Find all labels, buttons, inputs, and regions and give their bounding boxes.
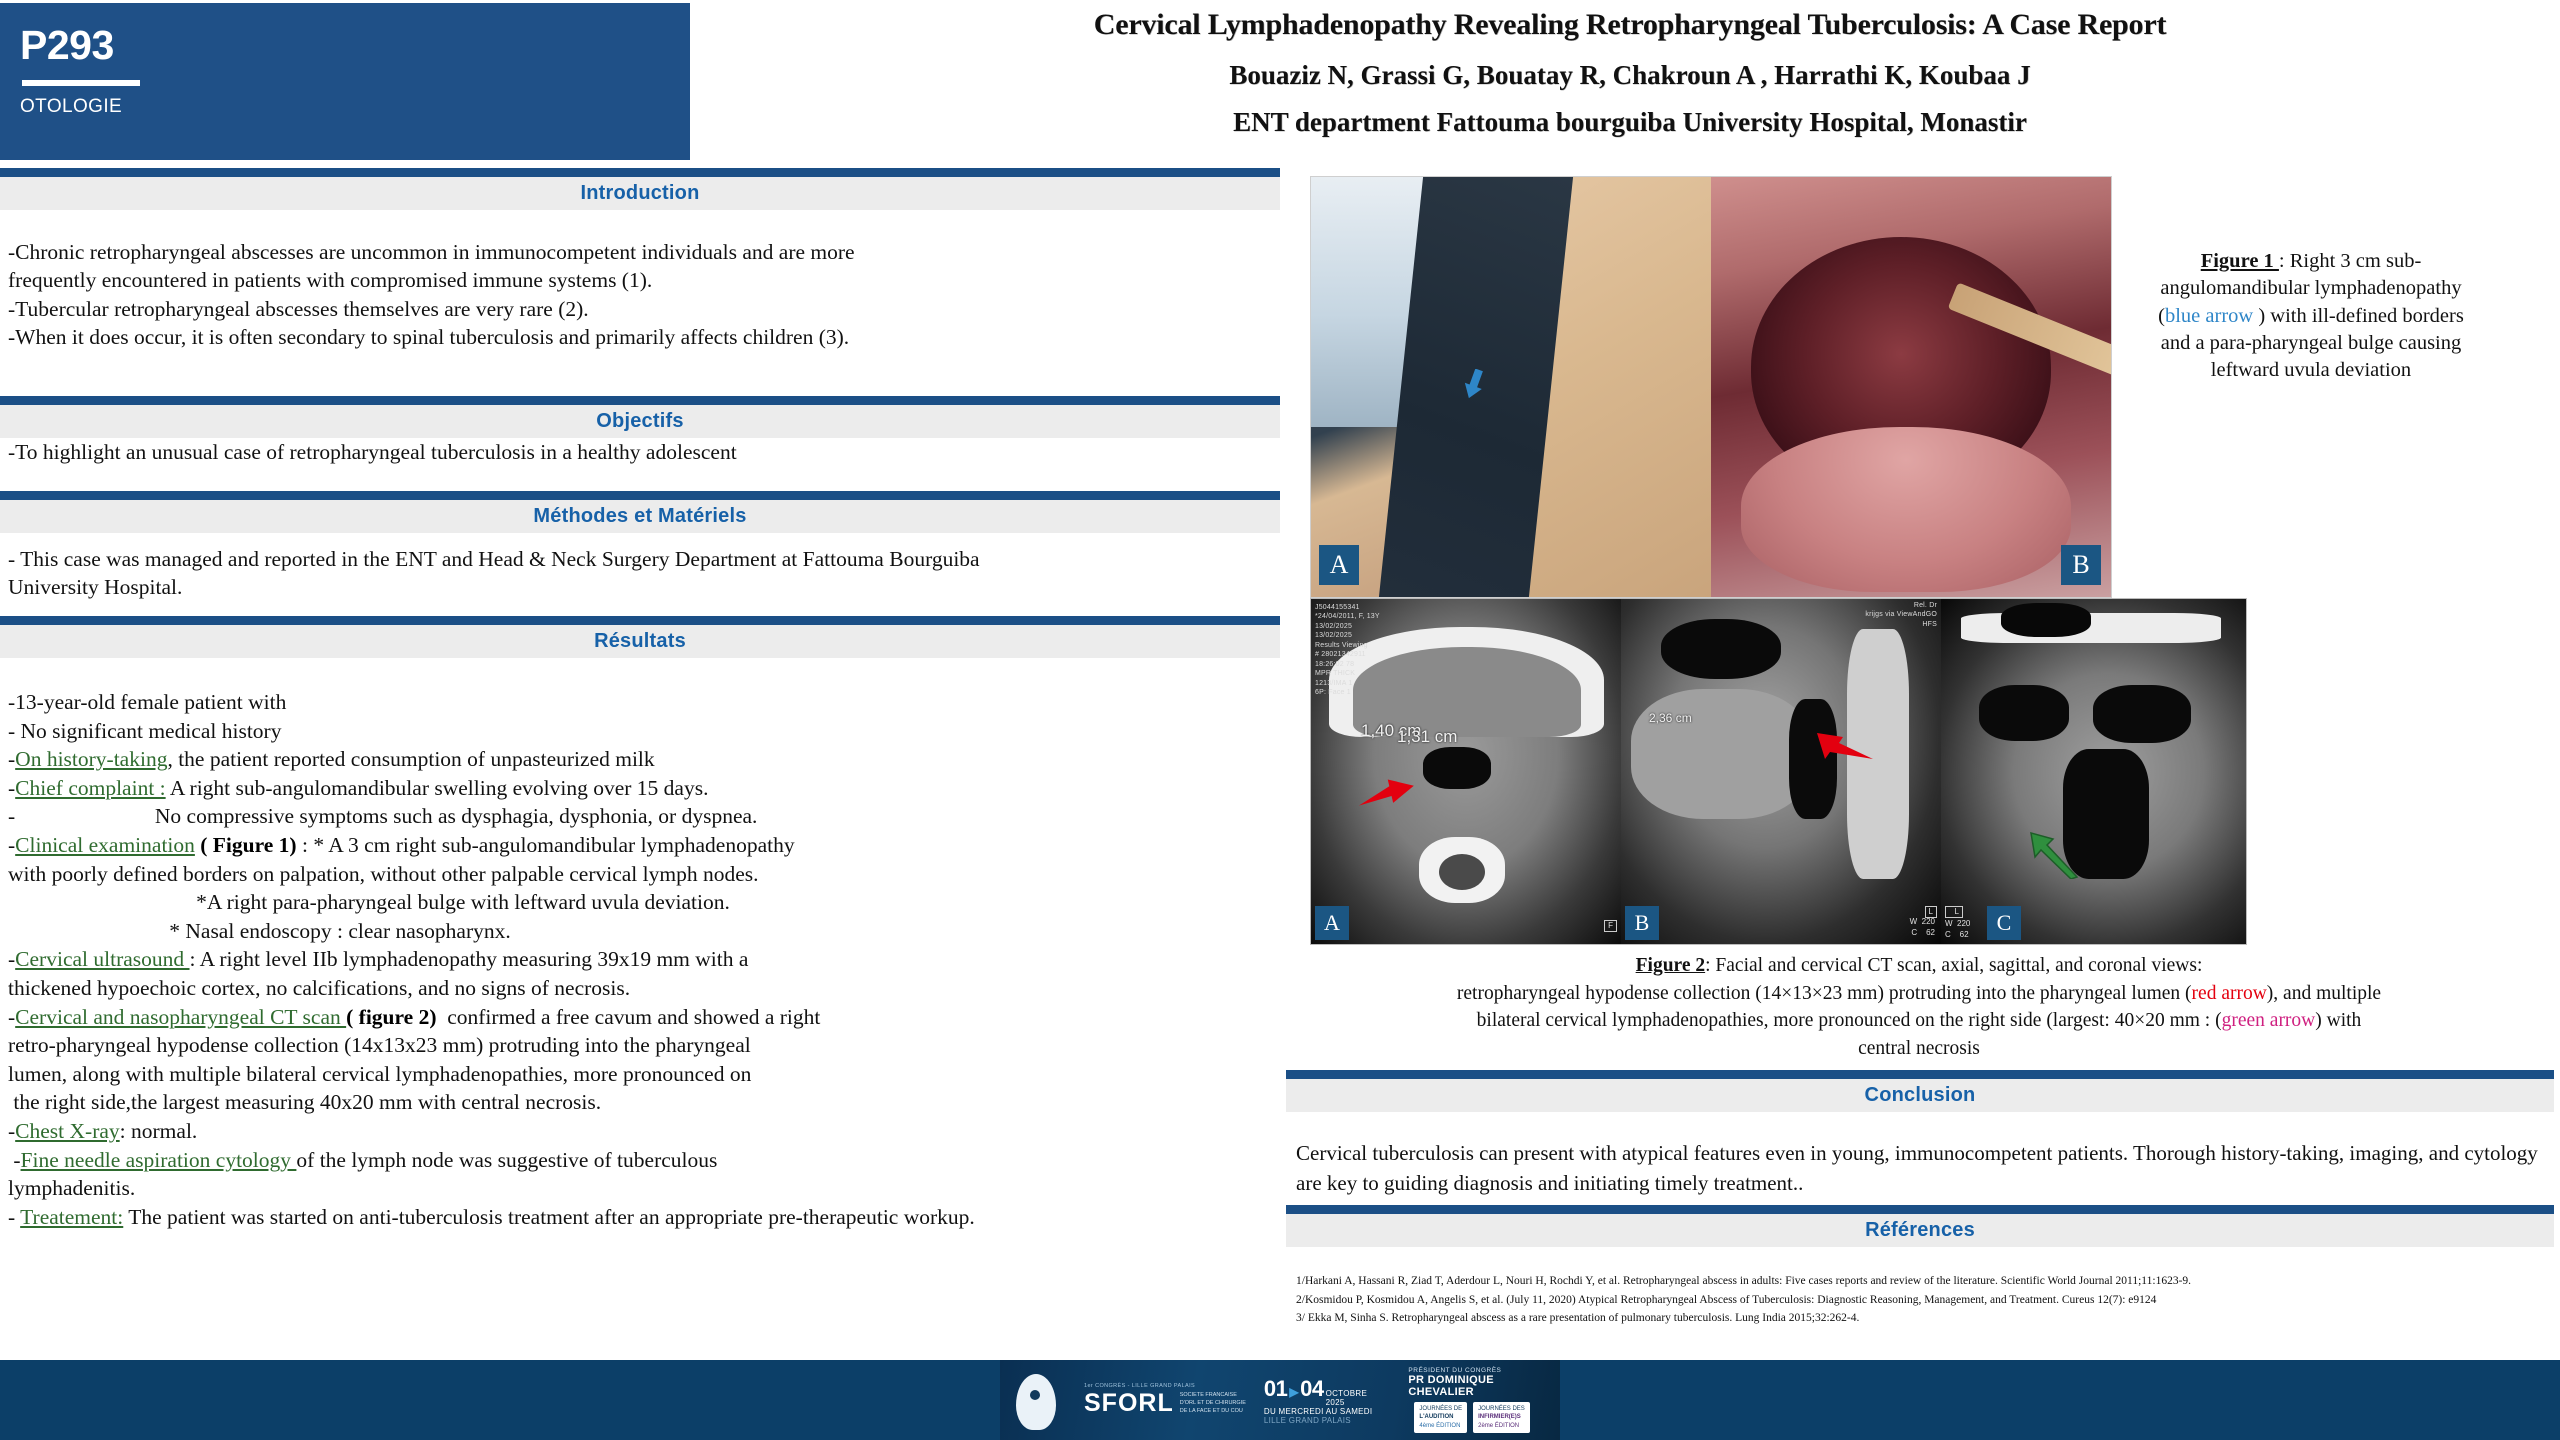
figure2-panel-label-c: C bbox=[1987, 906, 2021, 940]
figure1-panel-a-photo: A bbox=[1311, 177, 1711, 597]
poster-title-block: Cervical Lymphadenopathy Revealing Retro… bbox=[700, 0, 2560, 160]
infirmieres-chip-badge: 2ème ÉDITION bbox=[1478, 1422, 1525, 1430]
resultats-line: with poorly defined borders on palpation… bbox=[8, 860, 1278, 889]
author-list: Bouaziz N, Grassi G, Bouatay R, Chakroun… bbox=[700, 42, 2560, 91]
resultats-text: confirmed a free cavum and showed a righ… bbox=[436, 1005, 820, 1029]
figure2-caption-green-arrow-text: green arrow bbox=[2222, 1010, 2316, 1031]
congress-days: DU MERCREDI AU SAMEDI bbox=[1264, 1407, 1387, 1416]
resultats-line: - No significant medical history bbox=[8, 717, 1278, 746]
soft-tissue-mass bbox=[1631, 689, 1811, 819]
introduction-body: -Chronic retropharyngeal abscesses are u… bbox=[8, 238, 1273, 352]
resultats-text: : * A 3 cm right sub-angulomandibular ly… bbox=[297, 833, 795, 857]
references-list: 1/Harkani A, Hassani R, Ziad T, Aderdour… bbox=[1296, 1272, 2546, 1328]
figure1-caption-label: Figure 1 bbox=[2201, 250, 2279, 272]
congress-month-year: OCTOBRE 2025 bbox=[1326, 1389, 1387, 1407]
figure1-panel-label-a: A bbox=[1319, 545, 1359, 585]
ct-window-center-b: W 220 C 62 bbox=[1910, 917, 1935, 938]
resultats-text: -13-year-old female patient with bbox=[8, 690, 286, 714]
resultats-line: - No compressive symptoms such as dyspha… bbox=[8, 802, 1278, 831]
figure2-panel-label-b: B bbox=[1625, 906, 1659, 940]
figure1-panel-b-photo: B bbox=[1711, 177, 2111, 597]
poster-header: P293 OTOLOGIE Cervical Lymphadenopathy R… bbox=[0, 0, 2560, 160]
methodes-body: - This case was managed and reported in … bbox=[8, 545, 1273, 602]
section-label-objectifs: Objectifs bbox=[596, 410, 683, 433]
ct-measurement-2: 1,31 cm bbox=[1397, 727, 1457, 747]
section-label-conclusion: Conclusion bbox=[1865, 1084, 1976, 1107]
ct-orientation-marker-b: L bbox=[1925, 906, 1937, 918]
section-header-objectifs: Objectifs bbox=[0, 396, 1280, 438]
infirmieres-chip-line2: INFIRMIER(E)S bbox=[1478, 1413, 1525, 1421]
infirmieres-chip-line1: JOURNÉES DES bbox=[1478, 1405, 1525, 1413]
resultats-line: -Chief complaint : A right sub-anguloman… bbox=[8, 774, 1278, 803]
section-accent-bar bbox=[0, 396, 1280, 405]
airway-lumen bbox=[1423, 747, 1491, 789]
section-accent-bar bbox=[0, 616, 1280, 625]
sforl-head-logo-icon bbox=[1000, 1360, 1080, 1440]
resultats-text: with poorly defined borders on palpation… bbox=[8, 862, 759, 886]
figure2-panel-label-a: A bbox=[1315, 906, 1349, 940]
section-header-introduction: Introduction bbox=[0, 168, 1280, 210]
section-title-band: Introduction bbox=[0, 177, 1280, 210]
conclusion-body: Cervical tuberculosis can present with a… bbox=[1296, 1138, 2546, 1199]
resultats-line: lymphadenitis. bbox=[8, 1174, 1278, 1203]
resultats-text: - No significant medical history bbox=[8, 719, 281, 743]
figure2-caption-line2a: retropharyngeal hypodense collection (14… bbox=[1457, 983, 2192, 1004]
resultats-text: The patient was started on anti-tubercul… bbox=[123, 1205, 975, 1229]
resultats-line: -Cervical and nasopharyngeal CT scan ( f… bbox=[8, 1003, 1278, 1032]
resultats-text: *A right para-pharyngeal bulge with left… bbox=[8, 890, 730, 914]
congress-venue: LILLE GRAND PALAIS bbox=[1264, 1416, 1387, 1425]
figure2-caption-line2b: ), and multiple bbox=[2267, 983, 2381, 1004]
resultats-line: -Clinical examination ( Figure 1) : * A … bbox=[8, 831, 1278, 860]
resultats-term-label: Treatement: bbox=[20, 1205, 123, 1229]
congress-date-start: 01 bbox=[1264, 1376, 1287, 1402]
ct-panel-coronal: L W 220 C 62 C bbox=[1941, 599, 2246, 944]
resultats-line: -Chest X-ray: normal. bbox=[8, 1117, 1278, 1146]
date-range-arrow-icon: ▶ bbox=[1289, 1385, 1298, 1399]
red-arrow-icon bbox=[1357, 777, 1417, 811]
figure2-caption-red-arrow-text: red arrow bbox=[2192, 983, 2267, 1004]
skull-base bbox=[1961, 613, 2221, 643]
section-label-resultats: Résultats bbox=[594, 630, 686, 653]
nasal-airway-right bbox=[2093, 685, 2191, 743]
section-header-resultats: Résultats bbox=[0, 616, 1280, 658]
affiliation: ENT department Fattouma bourguiba Univer… bbox=[700, 91, 2560, 138]
ct-metadata-axial: J5044155341 *24/04/2011, F, 13Y 13/02/20… bbox=[1315, 603, 1380, 697]
figure2-caption-line3a: bilateral cervical lymphadenopathies, mo… bbox=[1477, 1010, 2222, 1031]
figure2-caption-line3b: ) with bbox=[2315, 1010, 2361, 1031]
page-title: Cervical Lymphadenopathy Revealing Retro… bbox=[700, 0, 2560, 42]
audition-chip-badge: 4ème ÉDITION bbox=[1419, 1422, 1462, 1430]
section-header-references: Références bbox=[1286, 1205, 2554, 1247]
sforl-wordmark: SFORL bbox=[1084, 1389, 1174, 1418]
figure1-caption: Figure 1 : Right 3 cm sub-angulomandibul… bbox=[2152, 248, 2470, 384]
section-title-band: Méthodes et Matériels bbox=[0, 500, 1280, 533]
resultats-line: the right side,the largest measuring 40x… bbox=[8, 1088, 1278, 1117]
resultats-text: retro-pharyngeal hypodense collection (1… bbox=[8, 1033, 751, 1057]
resultats-line: retro-pharyngeal hypodense collection (1… bbox=[8, 1031, 1278, 1060]
congress-president-block: PRÉSIDENT DU CONGRÈS PR DOMINIQUE CHEVAL… bbox=[1408, 1367, 1560, 1432]
red-arrow-icon bbox=[1817, 729, 1875, 765]
spinal-canal bbox=[1439, 854, 1485, 890]
audition-chip: JOURNÉES DE L'AUDITION 4ème ÉDITION bbox=[1414, 1402, 1467, 1432]
audition-chip-line2: L'AUDITION bbox=[1419, 1413, 1462, 1421]
resultats-text: : A right level IIb lymphadenopathy meas… bbox=[190, 947, 749, 971]
infirmieres-chip: JOURNÉES DES INFIRMIER(E)S 2ème ÉDITION bbox=[1473, 1402, 1530, 1432]
resultats-term-label: Chief complaint : bbox=[15, 776, 165, 800]
neck-skin-region bbox=[1521, 177, 1721, 597]
ct-panel-sagittal: Rel. Dr krijgs via ViewAndGO HFS 2,36 cm… bbox=[1621, 599, 1941, 944]
figure2-caption-line4: central necrosis bbox=[1858, 1038, 1980, 1059]
section-label-references: Références bbox=[1865, 1219, 1975, 1242]
resultats-text: : normal. bbox=[120, 1119, 198, 1143]
reference-item: 3/ Ekka M, Sinha S. Retropharyngeal absc… bbox=[1296, 1309, 2546, 1328]
poster-category-label: OTOLOGIE bbox=[20, 96, 690, 118]
section-title-band: Références bbox=[1286, 1214, 2554, 1247]
figure2-caption: Figure 2: Facial and cervical CT scan, a… bbox=[1290, 952, 2548, 1063]
resultats-bullet: - bbox=[8, 1205, 20, 1229]
section-title-band: Résultats bbox=[0, 625, 1280, 658]
resultats-text: , the patient reported consumption of un… bbox=[167, 747, 654, 771]
section-label-introduction: Introduction bbox=[580, 182, 699, 205]
nasal-airway-left bbox=[1979, 685, 2069, 741]
congress-banner: 1er CONGRÈS - LILLE GRAND PALAIS SFORL S… bbox=[1000, 1360, 1560, 1440]
resultats-text: of the lymph node was suggestive of tube… bbox=[296, 1148, 717, 1172]
resultats-line: -On history-taking, the patient reported… bbox=[8, 745, 1278, 774]
resultats-term-label: Clinical examination bbox=[15, 833, 195, 857]
resultats-term-label: Fine needle aspiration cytology bbox=[21, 1148, 297, 1172]
section-accent-bar bbox=[1286, 1205, 2554, 1214]
sforl-society-subtitle: SOCIETE FRANCAISE D'ORL ET DE CHIRURGIE … bbox=[1180, 1391, 1246, 1416]
ct-orientation-marker-a: F bbox=[1604, 920, 1617, 932]
blue-arrow-icon bbox=[1461, 369, 1487, 399]
section-header-conclusion: Conclusion bbox=[1286, 1070, 2554, 1112]
section-title-band: Objectifs bbox=[0, 405, 1280, 438]
congress-date-end: 04 bbox=[1300, 1376, 1323, 1402]
poster-number: P293 bbox=[20, 25, 690, 66]
resultats-term-label: Chest X-ray bbox=[15, 1119, 120, 1143]
resultats-term-label: Cervical ultrasound bbox=[15, 947, 189, 971]
figure1-caption-blue-arrow-text: blue arrow bbox=[2165, 305, 2253, 327]
figure2-ct-panels: J5044155341 *24/04/2011, F, 13Y 13/02/20… bbox=[1310, 598, 2247, 945]
congress-dates-block: 01 ▶ 04 OCTOBRE 2025 DU MERCREDI AU SAME… bbox=[1264, 1376, 1387, 1425]
figure-reference: ( figure 2) bbox=[346, 1005, 436, 1029]
resultats-line: -13-year-old female patient with bbox=[8, 688, 1278, 717]
figure2-caption-line1: : Facial and cervical CT scan, axial, sa… bbox=[1705, 955, 2202, 976]
president-label: PRÉSIDENT DU CONGRÈS bbox=[1408, 1367, 1560, 1374]
section-accent-bar bbox=[1286, 1070, 2554, 1079]
ct-measurement-3: 2,36 cm bbox=[1649, 711, 1692, 725]
section-label-methodes: Méthodes et Matériels bbox=[533, 505, 746, 528]
reference-item: 2/Kosmidou P, Kosmidou A, Angelis S, et … bbox=[1296, 1291, 2546, 1310]
objectifs-body: -To highlight an unusual case of retroph… bbox=[8, 438, 1273, 466]
resultats-text: A right sub-angulomandibular swelling ev… bbox=[166, 776, 709, 800]
tongue-region bbox=[1741, 427, 2071, 592]
poster-id-block: P293 OTOLOGIE bbox=[0, 3, 690, 160]
reference-item: 1/Harkani A, Hassani R, Ziad T, Aderdour… bbox=[1296, 1272, 2546, 1291]
resultats-text: the right side,the largest measuring 40x… bbox=[8, 1090, 601, 1114]
air-cell bbox=[2001, 603, 2091, 637]
section-title-band: Conclusion bbox=[1286, 1079, 2554, 1112]
resultats-line: lumen, along with multiple bilateral cer… bbox=[8, 1060, 1278, 1089]
poster-divider-rule bbox=[22, 80, 140, 86]
resultats-term-label: On history-taking bbox=[15, 747, 167, 771]
figure1-image-pair: A B bbox=[1310, 176, 2112, 598]
resultats-line: *A right para-pharyngeal bulge with left… bbox=[8, 888, 1278, 917]
resultats-text: lumen, along with multiple bilateral cer… bbox=[8, 1062, 751, 1086]
resultats-line: thickened hypoechoic cortex, no calcific… bbox=[8, 974, 1278, 1003]
resultats-term-label: Cervical and nasopharyngeal CT scan bbox=[15, 1005, 346, 1029]
section-accent-bar bbox=[0, 168, 1280, 177]
president-name: PR DOMINIQUE CHEVALIER bbox=[1408, 1374, 1560, 1398]
resultats-body: -13-year-old female patient with- No sig… bbox=[8, 688, 1278, 1231]
ct-panel-axial: J5044155341 *24/04/2011, F, 13Y 13/02/20… bbox=[1311, 599, 1621, 944]
resultats-line: -Fine needle aspiration cytology of the … bbox=[8, 1146, 1278, 1175]
resultats-line: -Cervical ultrasound : A right level IIb… bbox=[8, 945, 1278, 974]
resultats-line: * Nasal endoscopy : clear nasopharynx. bbox=[8, 917, 1278, 946]
resultats-text: lymphadenitis. bbox=[8, 1176, 135, 1200]
resultats-bullet: - bbox=[8, 1148, 21, 1172]
figure1-panel-label-b: B bbox=[2061, 545, 2101, 585]
resultats-text: thickened hypoechoic cortex, no calcific… bbox=[8, 976, 630, 1000]
resultats-text: - No compressive symptoms such as dyspha… bbox=[8, 804, 757, 828]
ct-metadata-sagittal: Rel. Dr krijgs via ViewAndGO HFS bbox=[1865, 601, 1937, 629]
ct-orientation-marker-c: L bbox=[1945, 906, 1963, 918]
audition-chip-line1: JOURNÉES DE bbox=[1419, 1405, 1462, 1413]
resultats-text: * Nasal endoscopy : clear nasopharynx. bbox=[8, 919, 511, 943]
figure-reference: ( Figure 1) bbox=[195, 833, 297, 857]
resultats-line: - Treatement: The patient was started on… bbox=[8, 1203, 1278, 1232]
sinus-air bbox=[1661, 619, 1781, 679]
green-arrow-icon bbox=[2029, 831, 2081, 879]
ct-window-center-c: W 220 C 62 bbox=[1945, 919, 1970, 940]
figure2-caption-label: Figure 2 bbox=[1636, 955, 1706, 976]
section-header-methodes: Méthodes et Matériels bbox=[0, 491, 1280, 533]
section-accent-bar bbox=[0, 491, 1280, 500]
